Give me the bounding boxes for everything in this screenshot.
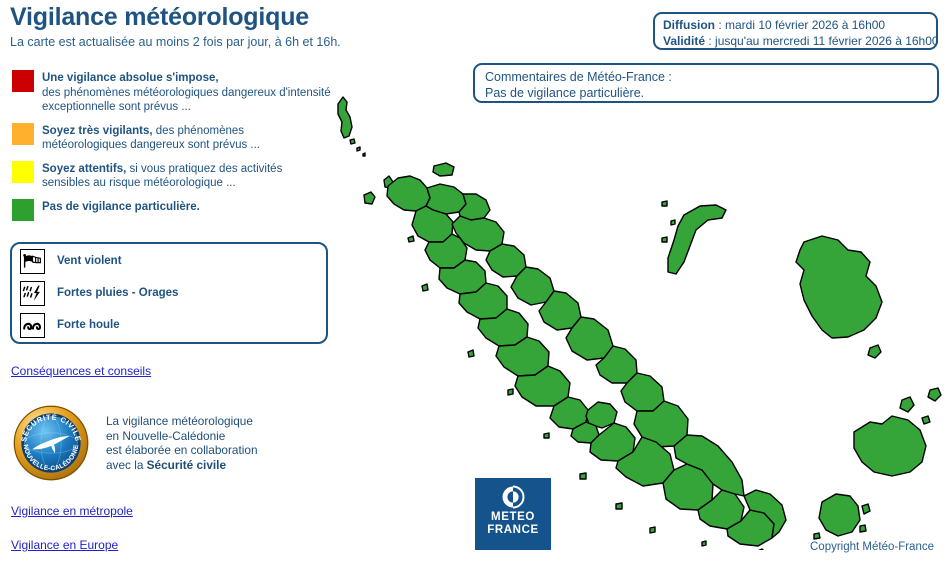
vigilance-map[interactable] <box>330 90 950 550</box>
map-islet-west-f <box>580 473 586 479</box>
securite-civile-text: La vigilance météorologique en Nouvelle-… <box>106 404 258 482</box>
map-zone-belep-islet-c <box>363 153 365 156</box>
page-title: Vigilance météorologique <box>10 2 630 32</box>
map-zone-pouebo <box>459 194 490 220</box>
legend-row-jaune: Soyez attentifs, si vous pratiquez des a… <box>12 161 332 191</box>
validity-line: Validité : jusqu'au mercredi 11 février … <box>663 33 928 49</box>
map-islet-west-c <box>468 350 474 357</box>
legend-bold-vert: Pas de vigilance particulière. <box>42 201 200 213</box>
phenomena-row-forte-houle: Forte houle <box>20 310 326 340</box>
map-islet-pins-c <box>814 533 820 539</box>
phenomena-label-fortes-pluies-orages: Fortes pluies - Orages <box>57 287 178 299</box>
color-legend: Une vigilance absolue s'impose, des phén… <box>12 70 332 229</box>
map-islet-west-a <box>408 236 414 242</box>
link-vigilance-europe[interactable]: Vigilance en Europe <box>11 538 118 552</box>
map-zone-belep <box>338 97 352 138</box>
diffusion-value: : mardi 10 février 2026 à 16h00 <box>715 18 885 32</box>
map-zone-lifou <box>796 236 882 338</box>
diffusion-line: Diffusion : mardi 10 février 2026 à 16h0… <box>663 17 928 33</box>
heavy-swell-icon <box>20 313 45 338</box>
map-islet-reef-b <box>702 541 706 546</box>
securite-line-2: en Nouvelle-Calédonie <box>106 429 258 444</box>
link-consequences-et-conseils[interactable]: Conséquences et conseils <box>11 364 151 378</box>
legend-row-orange: Soyez très vigilants, des phénomènes mét… <box>12 123 332 153</box>
securite-line-4-bold: Sécurité civile <box>147 458 226 472</box>
map-zone-belep-islet-b <box>357 147 360 151</box>
map-zone-ouvea <box>668 205 726 274</box>
map-islet-tiga-b <box>928 388 941 401</box>
header: Vigilance météorologique La carte est ac… <box>10 2 630 50</box>
map-islet-ouen <box>751 549 768 550</box>
validity-value: : jusqu'au mercredi 11 février 2026 à 16… <box>705 34 939 48</box>
map-islet-lifou-south <box>868 345 881 358</box>
diffusion-validity-box: Diffusion : mardi 10 février 2026 à 16h0… <box>653 12 938 50</box>
windsock-icon <box>20 249 45 274</box>
legend-bold-orange: Soyez très vigilants, <box>42 125 153 137</box>
legend-row-rouge: Une vigilance absolue s'impose, des phén… <box>12 70 332 115</box>
map-islet-pins-a <box>862 504 870 514</box>
securite-line-3: est élaborée en collaboration <box>106 443 258 458</box>
map-islet-ouvea-pleiades-b <box>671 220 675 225</box>
securite-civile-block: SÉCURITÉ CIVILE NOUVELLE-CALÉDONIE La vi… <box>12 404 292 482</box>
securite-line-4-prefix: avec la <box>106 458 147 472</box>
map-islet-pins-b <box>860 525 866 532</box>
legend-row-vert: Pas de vigilance particulière. <box>12 199 332 221</box>
legend-bold-jaune: Soyez attentifs, <box>42 163 126 175</box>
phenomena-label-vent-violent: Vent violent <box>57 255 122 267</box>
diffusion-label: Diffusion <box>663 18 715 32</box>
map-islet-tiga <box>900 397 914 412</box>
phenomena-legend-box: Vent violent Fortes pluies - Orages <box>10 242 328 344</box>
map-zone-belep-islet-a <box>350 139 355 144</box>
map-zone-ile-des-pins <box>819 494 860 536</box>
swatch-vert <box>12 199 34 221</box>
map-islet-ouvea-pleiades-a <box>662 201 667 206</box>
phenomena-row-vent-violent: Vent violent <box>20 246 326 276</box>
rain-thunderstorm-icon <box>20 281 45 306</box>
map-islet-mare-n <box>922 416 930 424</box>
securite-line-4: avec la Sécurité civile <box>106 458 258 473</box>
map-islet-west-h <box>650 527 655 533</box>
legend-text-rouge: Une vigilance absolue s'impose, des phén… <box>42 70 332 115</box>
legend-text-jaune: Soyez attentifs, si vous pratiquez des a… <box>42 161 332 191</box>
swatch-orange <box>12 123 34 145</box>
vigilance-page: Vigilance météorologique La carte est ac… <box>0 0 950 565</box>
map-islet-west-g <box>616 503 622 509</box>
link-vigilance-metropole[interactable]: Vigilance en métropole <box>11 504 133 518</box>
map-islet-balabio <box>433 163 454 176</box>
swatch-jaune <box>12 161 34 183</box>
securite-line-1: La vigilance météorologique <box>106 414 258 429</box>
map-land-group <box>338 97 941 550</box>
map-zone-mare <box>854 416 926 476</box>
validity-label: Validité <box>663 34 705 48</box>
legend-rest-rouge: des phénomènes météorologiques dangereux… <box>42 87 331 114</box>
securite-civile-logo: SÉCURITÉ CIVILE NOUVELLE-CALÉDONIE <box>12 404 90 482</box>
map-islet-yande <box>364 192 375 204</box>
phenomena-label-forte-houle: Forte houle <box>57 319 120 331</box>
phenomena-row-fortes-pluies-orages: Fortes pluies - Orages <box>20 278 326 308</box>
legend-bold-rouge: Une vigilance absolue s'impose, <box>42 72 219 84</box>
map-islet-west-b <box>422 284 428 291</box>
page-subtitle: La carte est actualisée au moins 2 fois … <box>10 34 630 50</box>
map-zone-poum <box>387 176 430 211</box>
legend-text-vert: Pas de vigilance particulière. <box>42 199 200 215</box>
map-islet-west-d <box>508 389 513 395</box>
legend-text-orange: Soyez très vigilants, des phénomènes mét… <box>42 123 332 153</box>
map-islet-west-e <box>544 433 549 438</box>
comments-title: Commentaires de Météo-France : <box>485 69 927 85</box>
swatch-rouge <box>12 70 34 92</box>
map-islet-ouvea-pleiades-c <box>662 237 667 242</box>
